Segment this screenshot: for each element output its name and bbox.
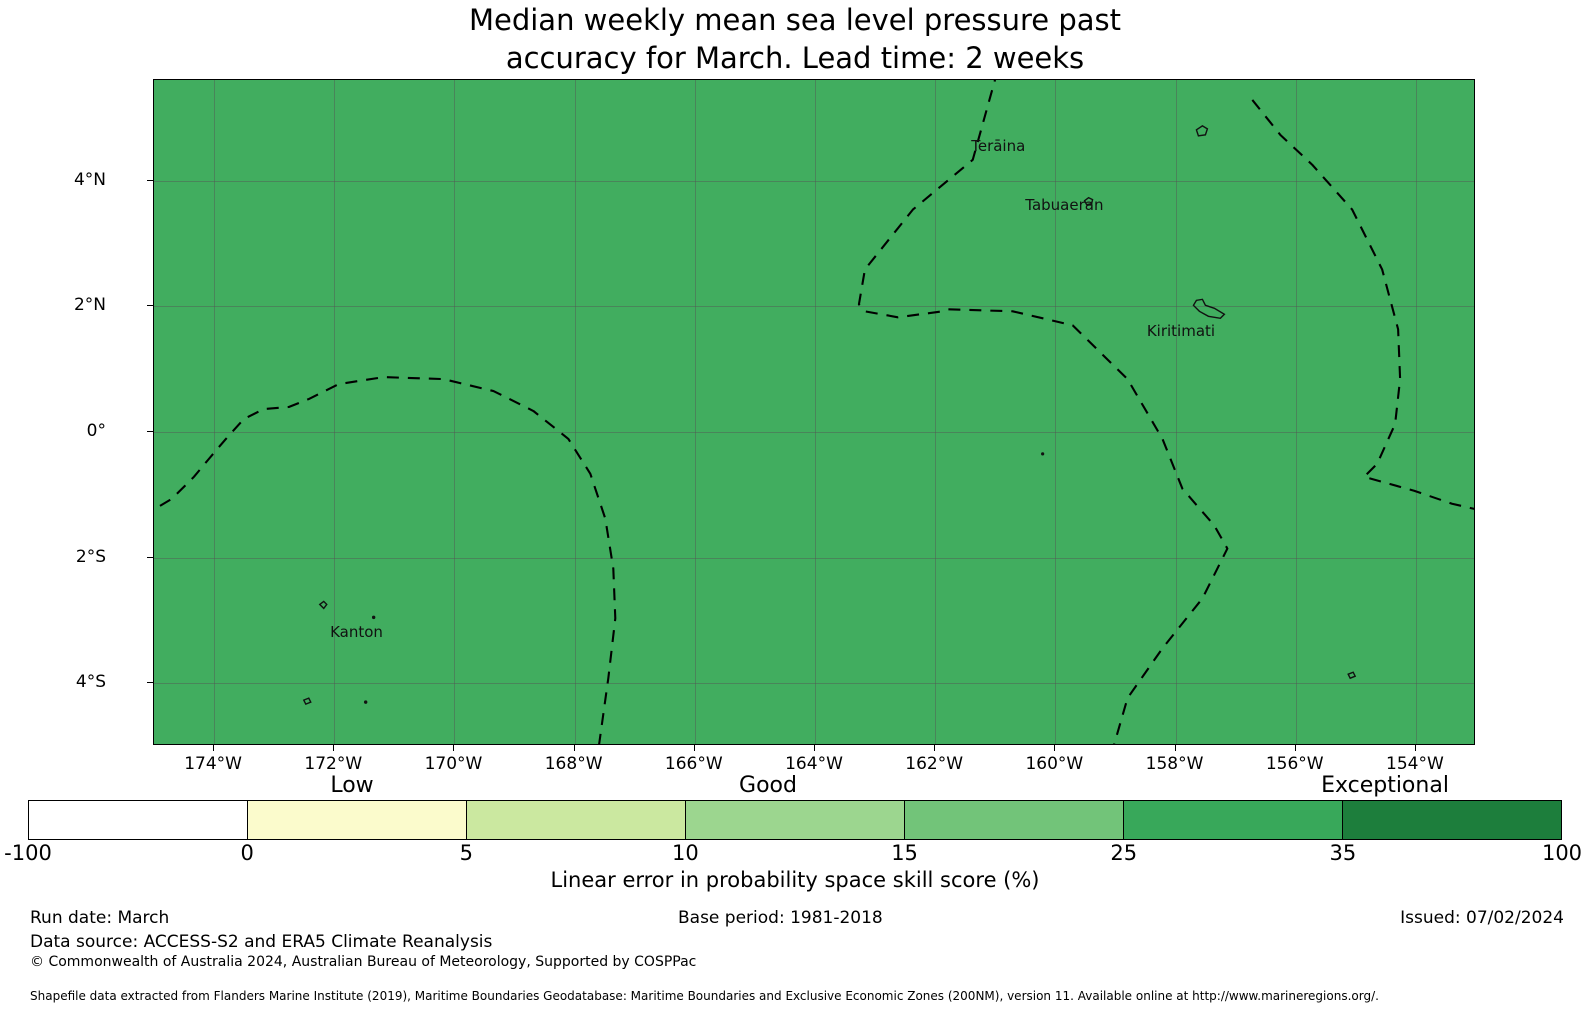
longitude-tick-mark bbox=[1295, 745, 1296, 751]
colorbar-segment[interactable] bbox=[904, 801, 1123, 839]
colorbar-axis-label: Linear error in probability space skill … bbox=[0, 868, 1590, 892]
longitude-tick-label: 168°W bbox=[545, 754, 603, 774]
longitude-tick-label: 158°W bbox=[1146, 754, 1204, 774]
island-label: Terāina bbox=[971, 137, 1025, 155]
latitude-tick-label: 2°S bbox=[76, 547, 106, 567]
longitude-tick-mark bbox=[333, 745, 334, 751]
copyright: © Commonwealth of Australia 2024, Austra… bbox=[30, 954, 696, 970]
latitude-tick-label: 4°S bbox=[76, 672, 106, 692]
colorbar-segment[interactable] bbox=[685, 801, 904, 839]
colorbar-tick-label: -100 bbox=[4, 841, 52, 865]
longitude-tick-label: 174°W bbox=[184, 754, 242, 774]
colorbar-segment[interactable] bbox=[247, 801, 466, 839]
longitude-tick-mark bbox=[694, 745, 695, 751]
longitude-tick-label: 170°W bbox=[425, 754, 483, 774]
colorbar-tick-label: 0 bbox=[240, 841, 253, 865]
colorbar-category-label: Low bbox=[330, 773, 373, 798]
base-period: Base period: 1981-2018 bbox=[678, 908, 883, 928]
colorbar-segment[interactable] bbox=[29, 801, 247, 839]
longitude-tick-mark bbox=[453, 745, 454, 751]
latitude-tick-mark bbox=[147, 682, 153, 683]
colorbar-tick-label: 100 bbox=[1542, 841, 1582, 865]
longitude-tick-label: 162°W bbox=[905, 754, 963, 774]
latitude-tick-mark bbox=[147, 557, 153, 558]
longitude-tick-label: 154°W bbox=[1386, 754, 1444, 774]
longitude-tick-mark bbox=[1175, 745, 1176, 751]
colorbar-gradient[interactable] bbox=[28, 800, 1562, 840]
issued-date: Issued: 07/02/2024 bbox=[1400, 908, 1564, 928]
latitude-tick-label: 0° bbox=[87, 421, 106, 441]
longitude-tick-label: 172°W bbox=[304, 754, 362, 774]
latitude-tick-label: 4°N bbox=[74, 170, 106, 190]
longitude-tick-mark bbox=[1415, 745, 1416, 751]
longitude-tick-mark bbox=[213, 745, 214, 751]
shapefile-citation: Shapefile data extracted from Flanders M… bbox=[30, 989, 1379, 1003]
colorbar[interactable] bbox=[28, 800, 1562, 840]
colorbar-segment[interactable] bbox=[1342, 801, 1561, 839]
colorbar-segment[interactable] bbox=[466, 801, 685, 839]
colorbar-tick-label: 5 bbox=[460, 841, 473, 865]
latitude-tick-mark bbox=[147, 305, 153, 306]
longitude-tick-label: 166°W bbox=[665, 754, 723, 774]
map-panel[interactable]: TerāinaTabuaeranKiritimatiKanton bbox=[153, 79, 1475, 745]
longitude-tick-mark bbox=[574, 745, 575, 751]
island-label: Kiritimati bbox=[1147, 322, 1215, 340]
latitude-tick-mark bbox=[147, 180, 153, 181]
longitude-tick-label: 164°W bbox=[785, 754, 843, 774]
colorbar-tick-label: 15 bbox=[891, 841, 918, 865]
island-outlines bbox=[154, 80, 1474, 744]
longitude-tick-label: 160°W bbox=[1025, 754, 1083, 774]
colorbar-category-label: Good bbox=[739, 773, 797, 798]
colorbar-tick-label: 25 bbox=[1110, 841, 1137, 865]
longitude-tick-mark bbox=[934, 745, 935, 751]
colorbar-segment[interactable] bbox=[1123, 801, 1342, 839]
colorbar-category-label: Exceptional bbox=[1321, 773, 1449, 798]
longitude-tick-label: 156°W bbox=[1266, 754, 1324, 774]
island-label: Tabuaeran bbox=[1025, 196, 1103, 214]
colorbar-tick-label: 10 bbox=[672, 841, 699, 865]
longitude-tick-mark bbox=[814, 745, 815, 751]
data-source: Data source: ACCESS-S2 and ERA5 Climate … bbox=[30, 932, 492, 952]
island-label: Kanton bbox=[330, 623, 383, 641]
latitude-tick-label: 2°N bbox=[74, 295, 106, 315]
run-date: Run date: March bbox=[30, 908, 169, 928]
longitude-tick-mark bbox=[1054, 745, 1055, 751]
latitude-tick-mark bbox=[147, 431, 153, 432]
page-title: Median weekly mean sea level pressure pa… bbox=[0, 2, 1590, 77]
colorbar-tick-label: 35 bbox=[1329, 841, 1356, 865]
